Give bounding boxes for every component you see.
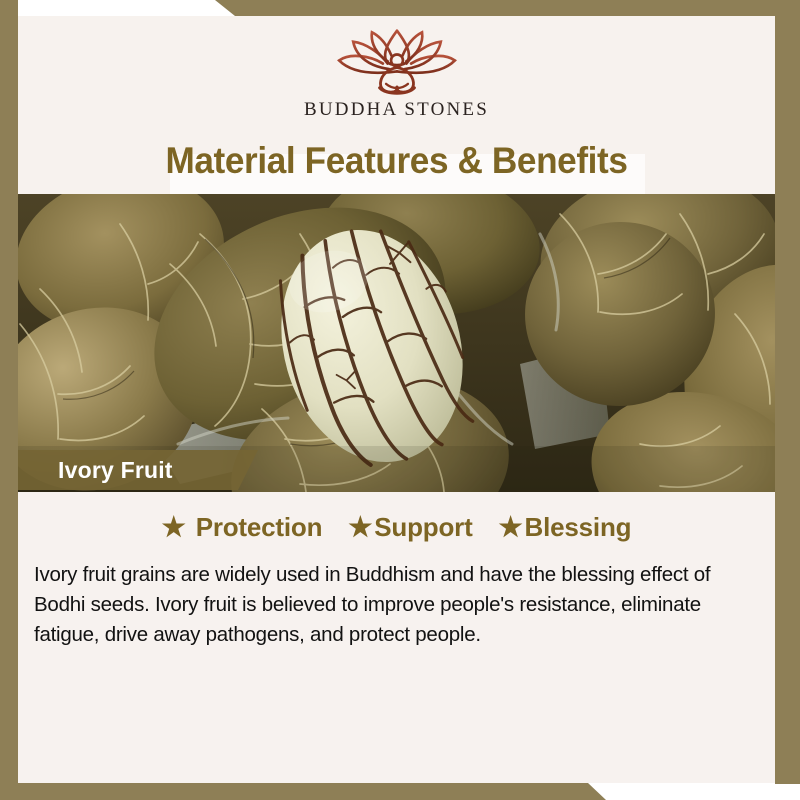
feature-label: Support — [374, 512, 472, 543]
feature-tag-support: ★ Support — [348, 512, 472, 543]
photo-artwork — [0, 194, 800, 492]
lotus-meditation-icon — [317, 26, 477, 98]
ivory-fruit-photo — [0, 194, 800, 492]
photo-caption-banner: Ivory Fruit — [0, 450, 258, 490]
frame-band-bottom — [0, 783, 800, 800]
description-text: Ivory fruit grains are widely used in Bu… — [34, 560, 746, 650]
feature-label: Protection — [196, 512, 323, 543]
star-icon: ★ — [499, 514, 523, 541]
description-block: Ivory fruit grains are widely used in Bu… — [34, 560, 746, 650]
photo-caption-text: Ivory Fruit — [58, 457, 173, 484]
star-icon: ★ — [348, 514, 372, 541]
feature-tags: ★ Protection ★ Support ★ Blessing — [18, 512, 775, 543]
brand-name: BUDDHA STONES — [304, 100, 489, 119]
feature-tag-protection: ★ Protection — [162, 512, 323, 543]
feature-tag-blessing: ★ Blessing — [499, 512, 632, 543]
star-icon: ★ — [162, 514, 186, 541]
frame-band-top — [0, 0, 800, 16]
poster: BUDDHA STONES Material Features & Benefi… — [0, 0, 800, 800]
page-title: Material Features & Benefits — [37, 132, 756, 190]
brand-logo: BUDDHA STONES — [297, 26, 497, 121]
feature-label: Blessing — [525, 512, 632, 543]
